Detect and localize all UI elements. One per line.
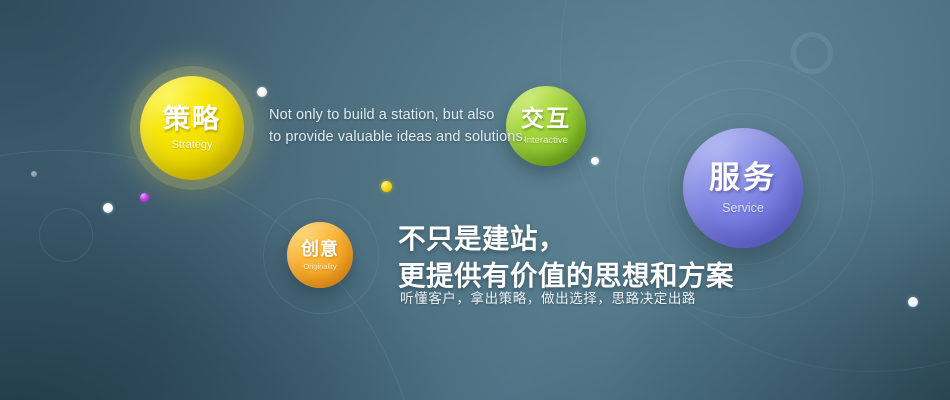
sphere-strategy-cn-label: 策略 (163, 106, 221, 133)
subheadline: 听懂客户，拿出策略，做出选择，思路决定出路 (400, 287, 696, 307)
background-shading (0, 0, 950, 400)
sphere-originality-en-label: Originality (303, 263, 336, 271)
ring-decor-left (39, 208, 93, 262)
grey-dot-left-icon (31, 171, 37, 177)
yellow-dot-icon (381, 181, 392, 192)
english-tagline: Not only to build a station, but also to… (269, 104, 527, 148)
sphere-strategy[interactable]: 策略 Strategy (140, 76, 244, 180)
sphere-originality[interactable]: 创意 Originality (287, 222, 353, 288)
white-dot-right-icon (908, 297, 918, 307)
white-dot-top-icon (257, 87, 267, 97)
arc-decor-left-large (0, 150, 422, 400)
white-dot-left-icon (103, 203, 113, 213)
sphere-originality-cn-label: 创意 (301, 240, 339, 258)
purple-dot-icon (140, 193, 149, 202)
white-dot-center-icon (591, 157, 599, 165)
sphere-interactive-cn-label: 交互 (521, 107, 571, 130)
sphere-service-cn-label: 服务 (709, 162, 777, 193)
sphere-strategy-en-label: Strategy (172, 140, 213, 151)
ring-decor-top-right (791, 32, 833, 74)
sphere-interactive-en-label: Interactive (524, 136, 568, 146)
hero-banner: 策略 Strategy 交互 Interactive 创意 Originalit… (0, 0, 950, 400)
sphere-service-en-label: Service (722, 202, 764, 215)
headline: 不只是建站， 更提供有价值的思想和方案 (398, 220, 734, 295)
